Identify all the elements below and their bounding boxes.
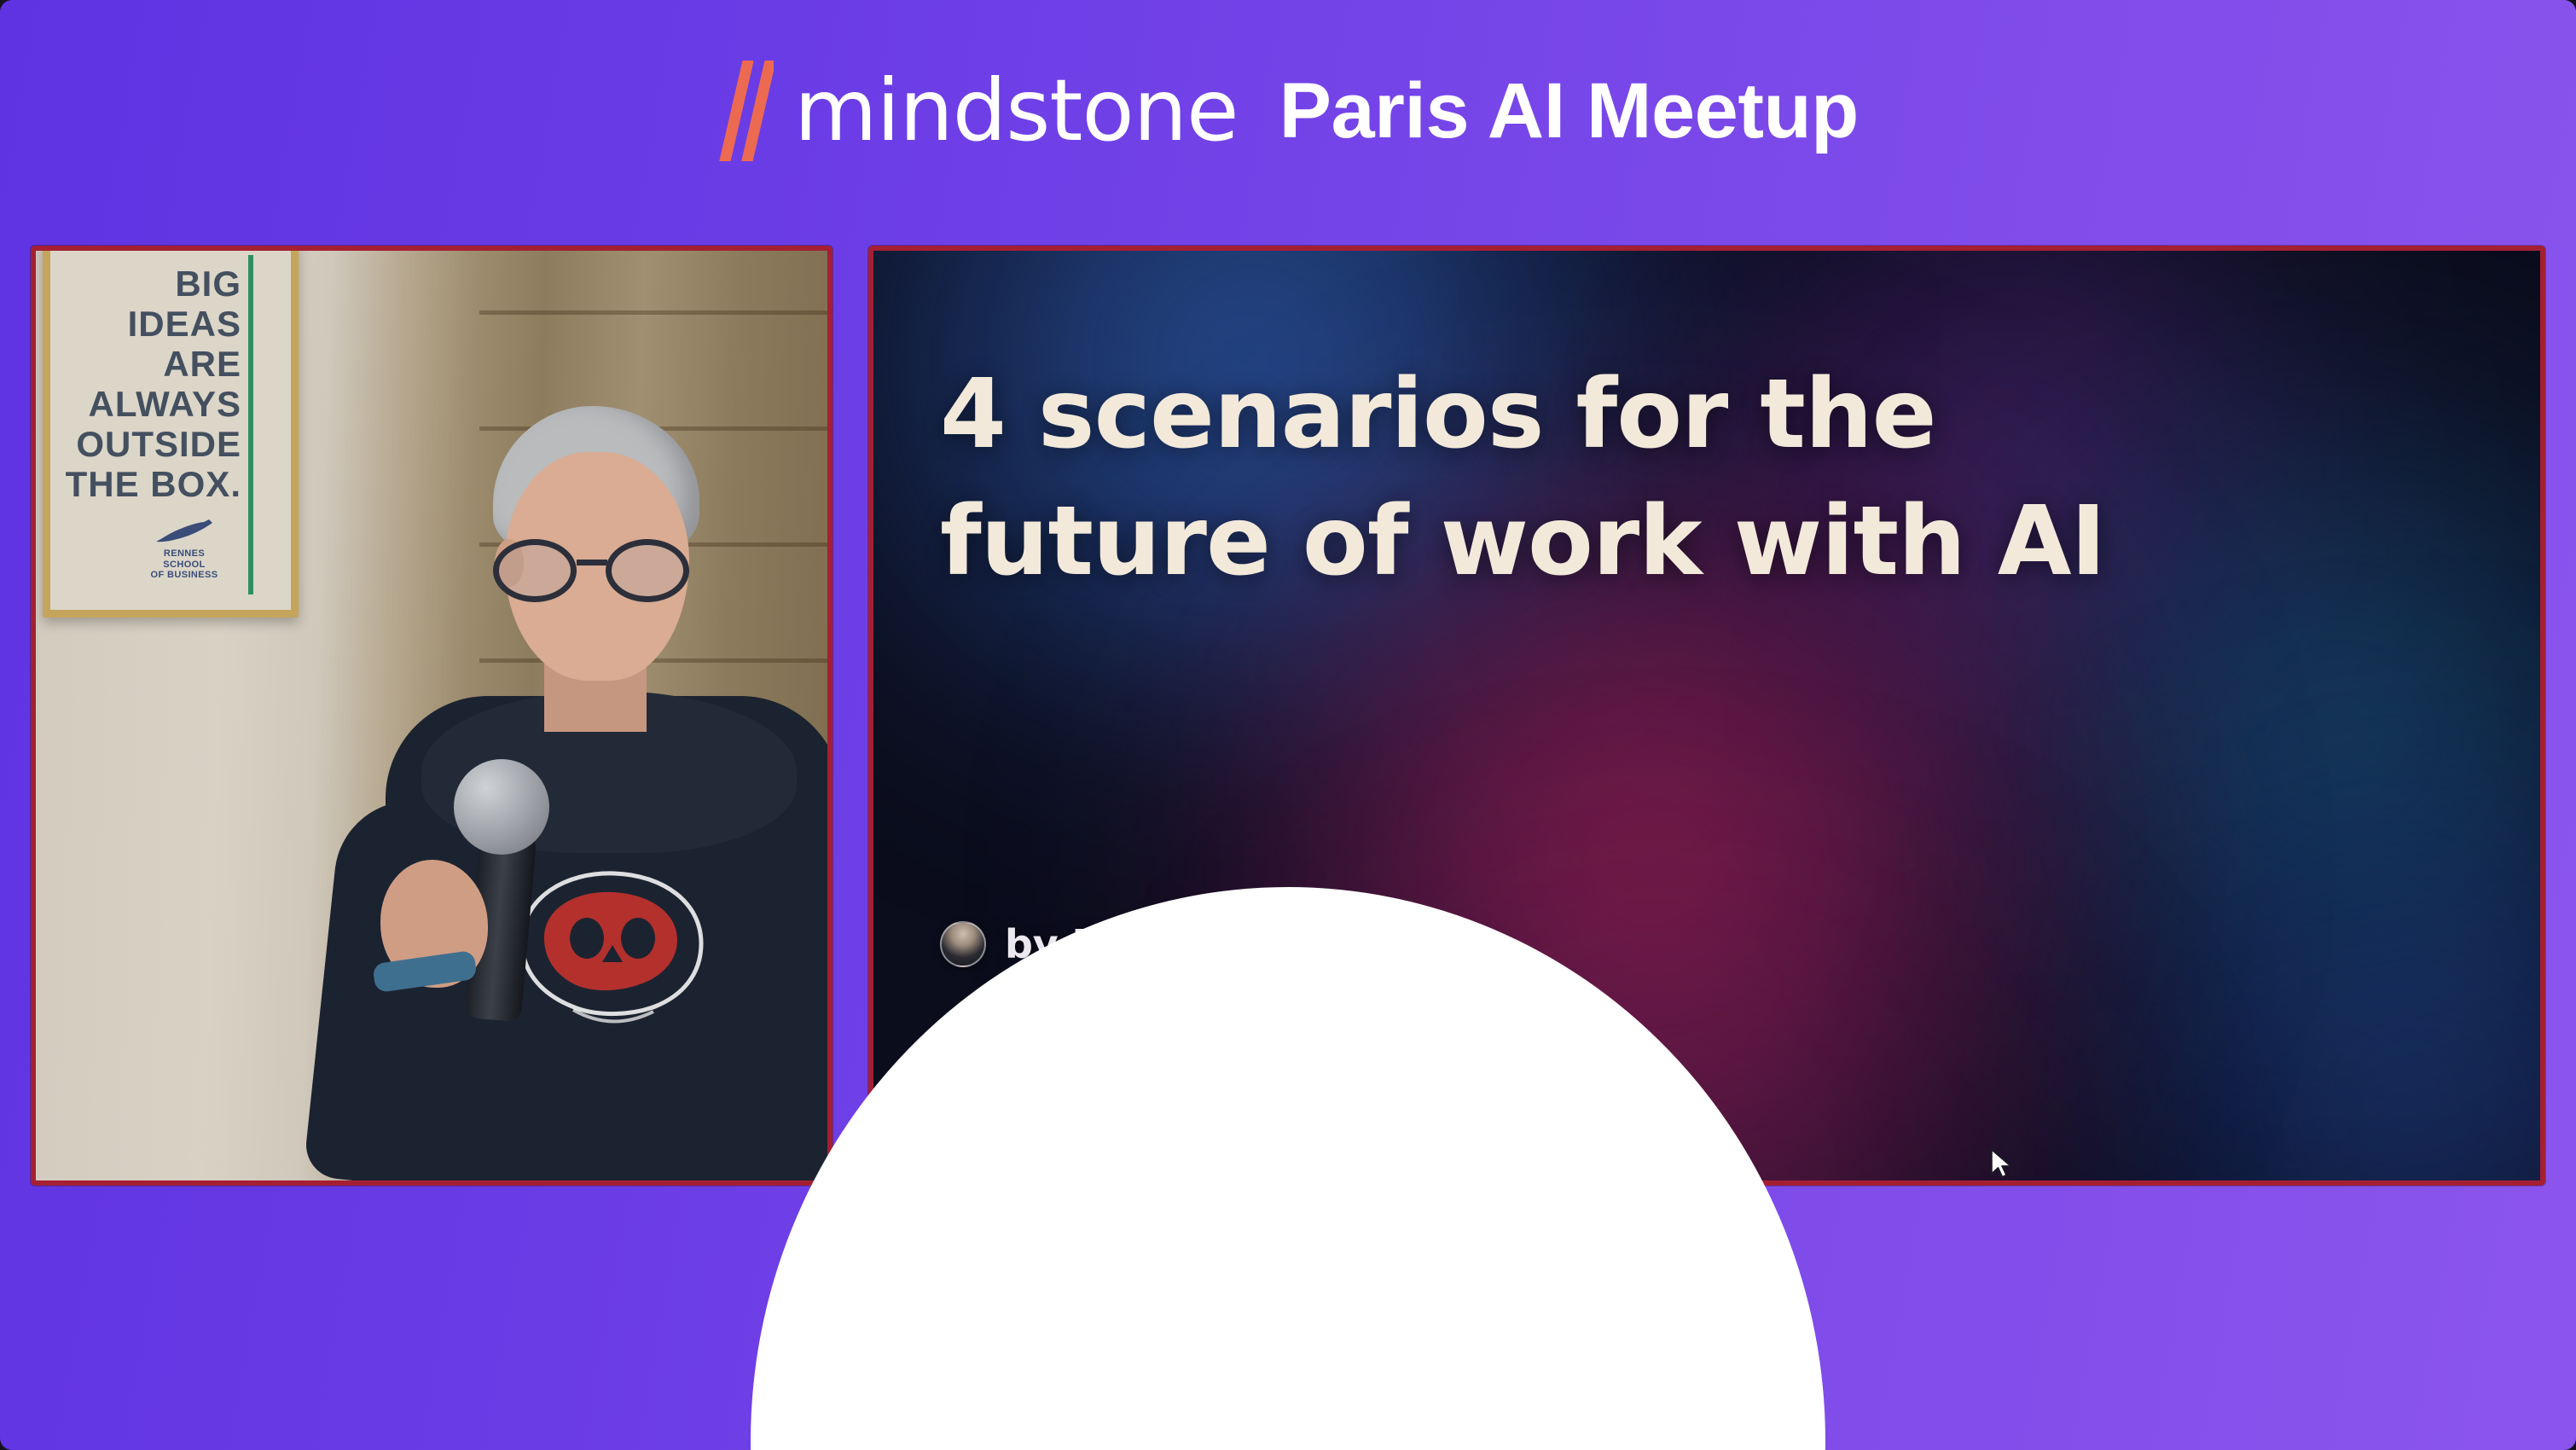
speaker-video-panel[interactable]: BIG IDEAS ARE ALWAYS OUTSIDE THE BOX. RE…	[31, 246, 833, 1186]
glasses-bridge	[577, 560, 607, 565]
poster-accent-rule	[248, 255, 253, 594]
brand-lockup: mindstone	[717, 61, 1238, 161]
header-bar: mindstone Paris AI Meetup	[0, 0, 2576, 222]
presentation-stage: mindstone Paris AI Meetup BIG IDEAS ARE …	[0, 0, 2576, 1450]
slide-title: 4 scenarios for the future of work with …	[940, 351, 2177, 606]
double-slash-icon	[717, 61, 774, 161]
poster-sponsor-logo: RENNES SCHOOL OF BUSINESS	[129, 516, 240, 581]
presenter-glasses	[493, 539, 703, 602]
wall-slat	[479, 310, 827, 315]
glasses-lens-right	[606, 539, 689, 602]
speaker-scene: BIG IDEAS ARE ALWAYS OUTSIDE THE BOX. RE…	[36, 251, 827, 1180]
poster-inner: BIG IDEAS ARE ALWAYS OUTSIDE THE BOX. RE…	[50, 251, 291, 610]
arrow-cursor-icon	[1989, 1148, 2015, 1182]
microphone-head	[454, 759, 549, 855]
wall-poster: BIG IDEAS ARE ALWAYS OUTSIDE THE BOX. RE…	[43, 251, 299, 618]
speaker-avatar	[940, 921, 986, 967]
poster-text: BIG IDEAS ARE ALWAYS OUTSIDE THE BOX.	[62, 264, 241, 504]
brand-wordmark: mindstone	[794, 68, 1238, 154]
event-title: Paris AI Meetup	[1279, 72, 1859, 150]
presenter-figure	[292, 324, 827, 1180]
poster-sponsor-name: RENNES SCHOOL OF BUSINESS	[129, 548, 240, 581]
leaping-panther-icon	[153, 516, 216, 545]
glasses-lens-left	[493, 539, 577, 602]
